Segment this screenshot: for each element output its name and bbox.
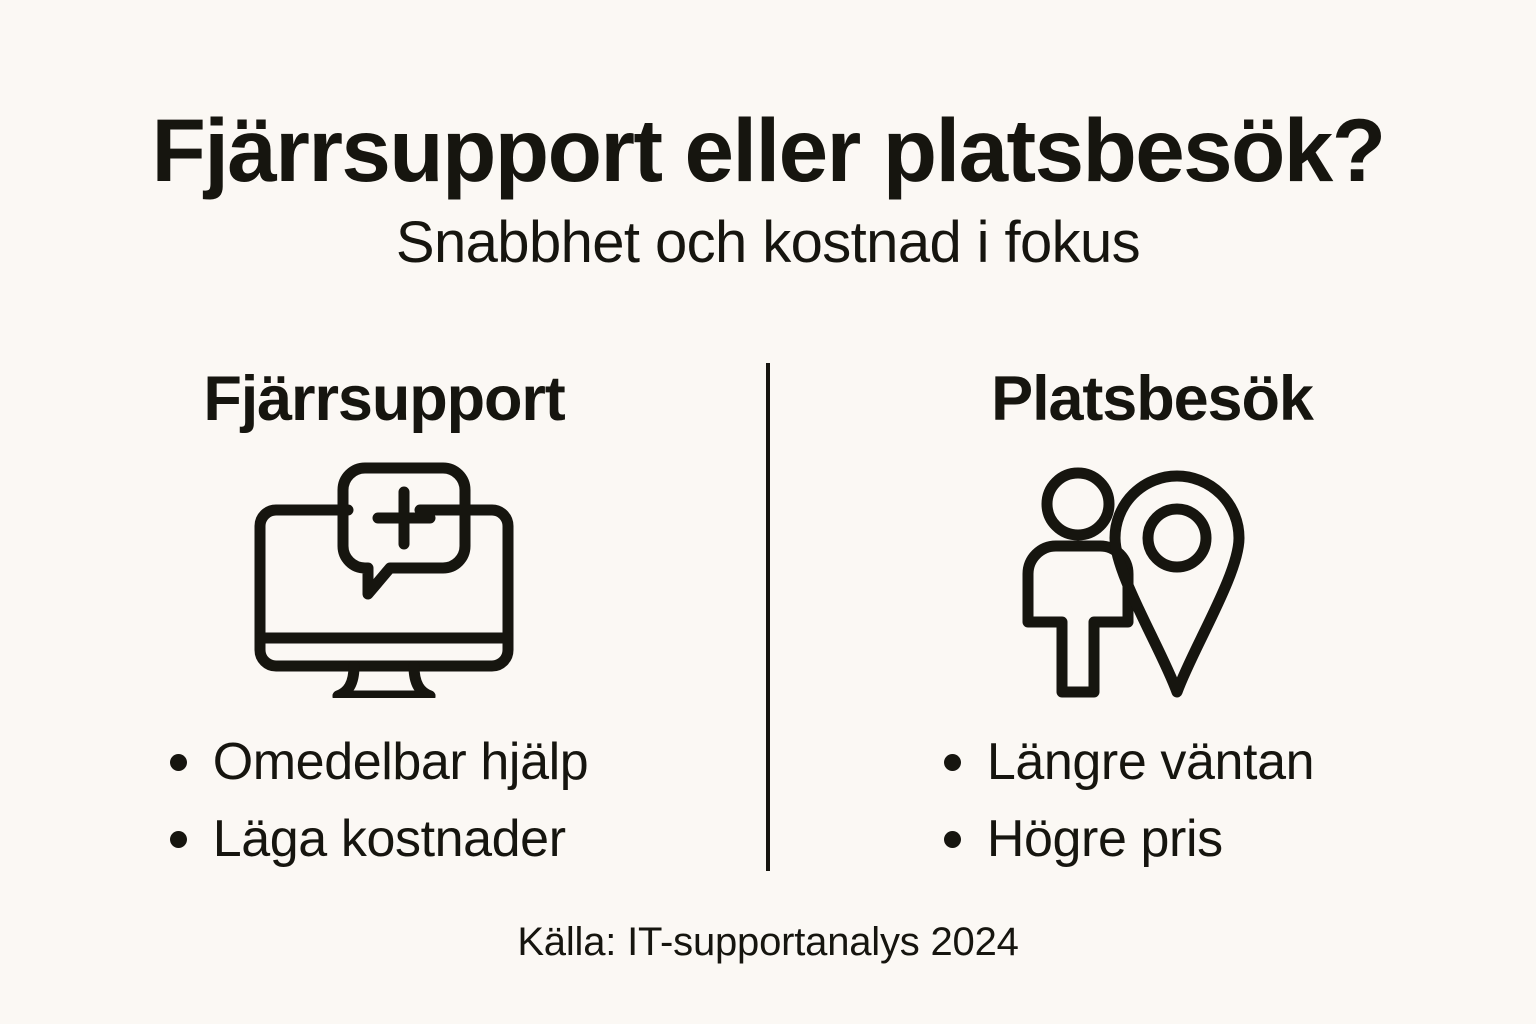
bullet-dot-icon — [944, 831, 961, 848]
list-item: Läga kostnader — [170, 811, 589, 868]
page-title: Fjärrsupport eller platsbesök? — [0, 104, 1536, 197]
list-item: Högre pris — [944, 811, 1314, 868]
source-caption: Källa: IT-supportanalys 2024 — [0, 920, 1536, 965]
bullet-list-onsite-visit: Längre väntan Högre pris — [944, 734, 1314, 868]
column-divider — [766, 363, 770, 871]
bullet-label: Högre pris — [987, 811, 1223, 868]
column-title-remote-support: Fjärrsupport — [203, 366, 564, 432]
list-item: Längre väntan — [944, 734, 1314, 791]
bullet-list-remote-support: Omedelbar hjälp Läga kostnader — [170, 734, 589, 868]
bullet-label: Omedelbar hjälp — [213, 734, 589, 791]
list-item: Omedelbar hjälp — [170, 734, 589, 791]
column-title-onsite-visit: Platsbesök — [991, 366, 1313, 432]
column-onsite-visit: Platsbesök Längre väntan — [768, 356, 1536, 916]
page-subtitle: Snabbhet och kostnad i fokus — [0, 211, 1536, 275]
infographic-root: Fjärrsupport eller platsbesök? Snabbhet … — [0, 0, 1536, 1024]
person-map-pin-icon — [1016, 460, 1288, 700]
bullet-label: Läga kostnader — [213, 811, 566, 868]
column-remote-support: Fjärrsupport — [0, 356, 768, 916]
bullet-dot-icon — [944, 754, 961, 771]
bullet-dot-icon — [170, 831, 187, 848]
bullet-dot-icon — [170, 754, 187, 771]
monitor-chat-plus-icon — [254, 460, 514, 700]
bullet-label: Längre väntan — [987, 734, 1314, 791]
header: Fjärrsupport eller platsbesök? Snabbhet … — [0, 0, 1536, 274]
